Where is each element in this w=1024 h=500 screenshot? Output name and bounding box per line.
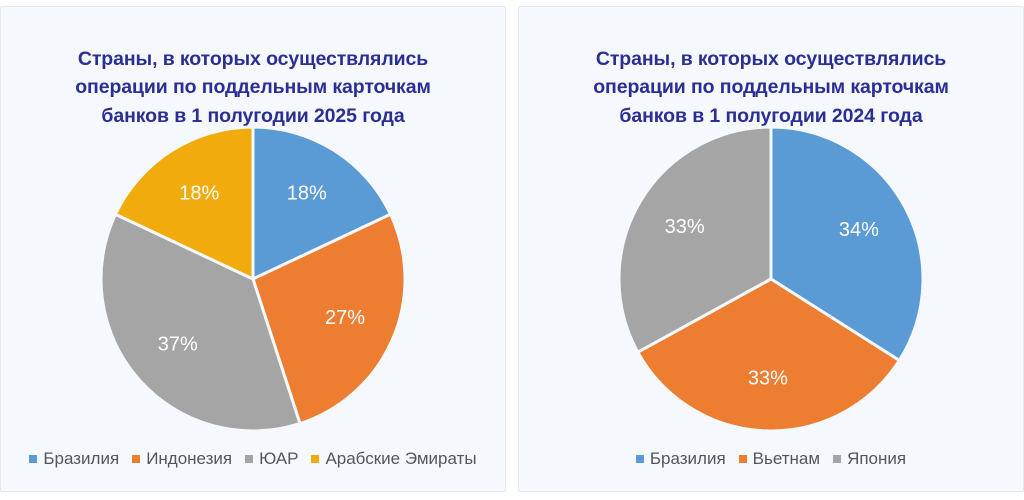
legend-swatch-icon (833, 455, 841, 463)
pie-slice-label: 33% (748, 368, 788, 390)
legend-item[interactable]: Арабские Эмираты (311, 450, 476, 467)
legend-item[interactable]: Япония (833, 450, 906, 467)
legend-item-label: Индонезия (146, 450, 232, 467)
legend-swatch-icon (29, 455, 37, 463)
pie-slice-label: 37% (158, 334, 198, 356)
legend-item[interactable]: Бразилия (636, 450, 726, 467)
pie-chart-2025: 18%27%37%18% (93, 119, 413, 439)
chart-panel-2025: Страны, в которых осуществлялись операци… (0, 6, 506, 492)
pie-slice-label: 18% (287, 183, 327, 205)
legend-2024: БразилияВьетнамЯпония (519, 450, 1023, 467)
chart-title-2024: Страны, в которых осуществлялись операци… (519, 45, 1023, 130)
pie-slice-label: 27% (325, 307, 365, 329)
pie-chart-2025-container: 18%27%37%18% (1, 119, 505, 439)
legend-item-label: Япония (847, 450, 906, 467)
legend-item[interactable]: ЮАР (245, 450, 298, 467)
legend-item-label: ЮАР (259, 450, 298, 467)
legend-item-label: Вьетнам (753, 450, 820, 467)
legend-swatch-icon (132, 455, 140, 463)
legend-item[interactable]: Бразилия (29, 450, 119, 467)
legend-item-label: Бразилия (43, 450, 119, 467)
chart-title-2025: Страны, в которых осуществлялись операци… (1, 45, 505, 130)
pie-slice-label: 34% (839, 219, 879, 241)
legend-swatch-icon (636, 455, 644, 463)
legend-swatch-icon (739, 455, 747, 463)
dual-pie-chart-screen: Страны, в которых осуществлялись операци… (0, 0, 1024, 500)
pie-chart-2024: 34%33%33% (611, 119, 931, 439)
pie-slice-label: 33% (665, 216, 705, 238)
legend-item-label: Арабские Эмираты (325, 450, 476, 467)
legend-swatch-icon (311, 455, 319, 463)
legend-item[interactable]: Индонезия (132, 450, 232, 467)
legend-item-label: Бразилия (650, 450, 726, 467)
pie-chart-2024-container: 34%33%33% (519, 119, 1023, 439)
chart-panel-2024: Страны, в которых осуществлялись операци… (518, 6, 1024, 492)
legend-item[interactable]: Вьетнам (739, 450, 820, 467)
legend-swatch-icon (245, 455, 253, 463)
pie-slice-label: 18% (179, 183, 219, 205)
legend-2025: БразилияИндонезияЮАРАрабские Эмираты (1, 450, 505, 467)
